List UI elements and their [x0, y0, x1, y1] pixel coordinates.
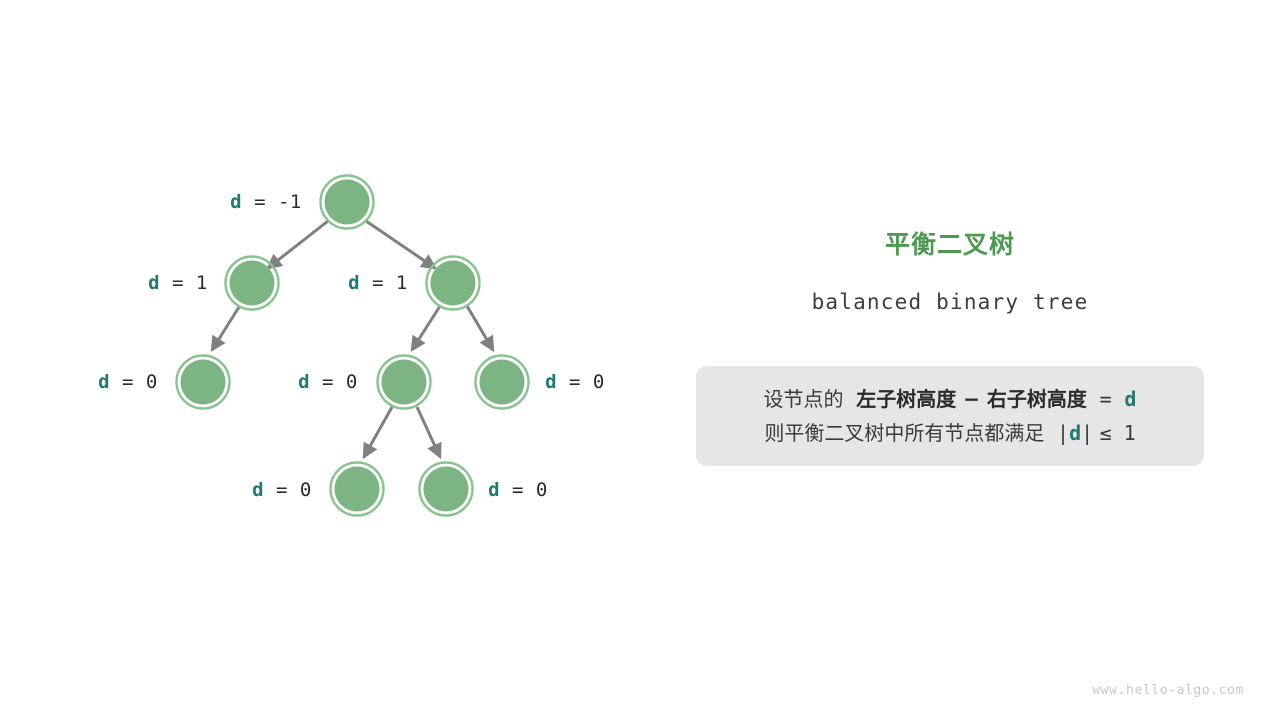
balance-label-right-left-left: d = 0 [252, 479, 312, 501]
balance-label-value: = 0 [322, 371, 358, 393]
balance-label-right-left-right: d = 0 [488, 479, 548, 501]
definition-var: d [1124, 387, 1136, 411]
balance-label-right: d = 1 [348, 272, 408, 294]
definition-box: 设节点的 左子树高度 − 右子树高度 = d 则平衡二叉树中所有节点都满足 |d… [696, 366, 1204, 466]
info-panel: 平衡二叉树 balanced binary tree [696, 225, 1204, 314]
balance-label-value: = 0 [569, 371, 605, 393]
tree-graph [0, 0, 1280, 720]
definition-line-1: 设节点的 左子树高度 − 右子树高度 = d [764, 382, 1137, 416]
balance-label-root: d = -1 [230, 191, 302, 213]
definition-equals: = [1100, 387, 1112, 411]
abs-open-bar: | [1057, 421, 1069, 445]
balance-label-var: d [148, 272, 160, 294]
panel-subtitle: balanced binary tree [696, 290, 1204, 314]
tree-node-left-left[interactable] [177, 356, 230, 409]
edge-rightleft-child-right [417, 407, 440, 457]
edge-root-right [366, 221, 435, 268]
definition-condition-prefix: 则平衡二叉树中所有节点都满足 [764, 421, 1044, 445]
balance-label-value: = 1 [372, 272, 408, 294]
balance-label-var: d [252, 479, 264, 501]
balance-label-right-right: d = 0 [545, 371, 605, 393]
edge-root-left [268, 221, 328, 268]
balance-label-var: d [298, 371, 310, 393]
tree-node-right-right[interactable] [476, 356, 529, 409]
balance-label-right-left: d = 0 [298, 371, 358, 393]
balance-label-left-left: d = 0 [98, 371, 158, 393]
definition-prefix: 设节点的 [764, 387, 844, 411]
edge-right-rightright [467, 306, 493, 350]
balance-label-value: = -1 [254, 191, 302, 213]
balance-label-var: d [98, 371, 110, 393]
tree-nodes [177, 176, 529, 516]
balance-label-value: = 0 [276, 479, 312, 501]
balance-label-var: d [230, 191, 242, 213]
balance-label-value: = 0 [122, 371, 158, 393]
tree-node-right[interactable] [427, 257, 480, 310]
diagram-canvas: d = -1 d = 1 d = 1 d = 0 d = 0 d = 0 d =… [0, 0, 1280, 720]
watermark-url: www.hello-algo.com [1092, 683, 1244, 698]
tree-node-left[interactable] [226, 257, 279, 310]
edge-right-rightleft [412, 306, 440, 350]
tree-node-right-left[interactable] [378, 356, 431, 409]
tree-node-root[interactable] [321, 176, 374, 229]
balance-label-value: = 1 [172, 272, 208, 294]
definition-line-2: 则平衡二叉树中所有节点都满足 |d| ≤ 1 [764, 416, 1135, 450]
balance-label-left: d = 1 [148, 272, 208, 294]
balance-label-var: d [488, 479, 500, 501]
balance-label-var: d [545, 371, 557, 393]
definition-comparison: ≤ 1 [1100, 421, 1136, 445]
definition-formula: 左子树高度 − 右子树高度 [856, 387, 1087, 411]
edge-rightleft-child-left [364, 407, 392, 457]
balance-label-var: d [348, 272, 360, 294]
tree-node-right-left-left[interactable] [331, 463, 384, 516]
panel-title: 平衡二叉树 [696, 225, 1204, 261]
abs-close-bar: | [1081, 421, 1093, 445]
definition-var: d [1069, 421, 1081, 445]
balance-label-value: = 0 [512, 479, 548, 501]
edge-left-leftleft [212, 307, 239, 350]
tree-node-right-left-right[interactable] [420, 463, 473, 516]
